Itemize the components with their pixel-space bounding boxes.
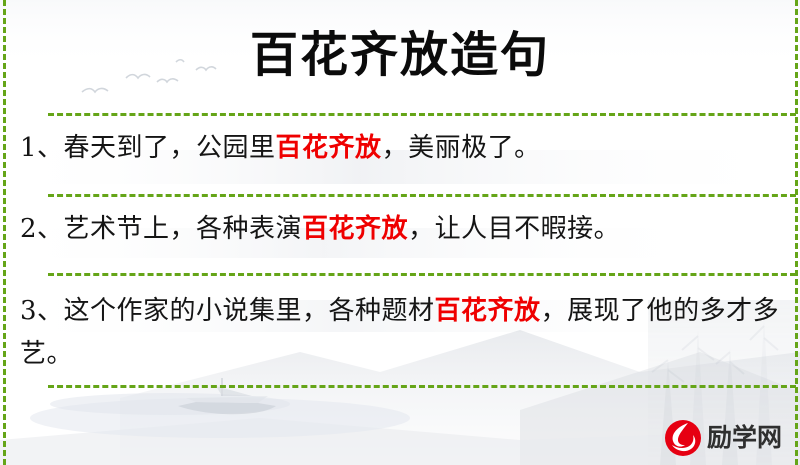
red-swirl-flame-icon <box>663 418 703 458</box>
list-item: 3、这个作家的小说集里，各种题材百花齐放，展现了他的多才多艺。 <box>20 290 782 376</box>
sentence-2-keyword: 百花齐放 <box>302 214 408 244</box>
sentence-3-text-before: 3、这个作家的小说集里，各种题材 <box>20 296 435 326</box>
sentence-1-text-before: 1、春天到了，公园里 <box>20 133 276 163</box>
sentence-3-keyword: 百花齐放 <box>435 296 541 326</box>
separator-above-sentence-1 <box>48 113 796 116</box>
worksheet-page: 百花齐放造句 1、春天到了，公园里百花齐放，美丽极了。 2、艺术节上，各种表演百… <box>0 0 800 465</box>
sentence-2-text-after: ，让人目不暇接。 <box>408 214 620 244</box>
page-title: 百花齐放造句 <box>0 24 800 86</box>
boat-silhouette <box>178 378 276 414</box>
separator-below-sentence-3 <box>48 385 796 388</box>
sentence-2-text-before: 2、艺术节上，各种表演 <box>20 214 302 244</box>
separator-between-2-and-3 <box>48 273 796 276</box>
sentence-1-keyword: 百花齐放 <box>276 133 382 163</box>
separator-between-1-and-2 <box>48 194 796 197</box>
list-item: 1、春天到了，公园里百花齐放，美丽极了。 <box>20 127 782 170</box>
sentence-1-text-after: ，美丽极了。 <box>382 133 541 163</box>
site-watermark-label: 励学网 <box>707 424 782 452</box>
site-watermark: 励学网 <box>663 416 791 460</box>
list-item: 2、艺术节上，各种表演百花齐放，让人目不暇接。 <box>20 208 782 251</box>
